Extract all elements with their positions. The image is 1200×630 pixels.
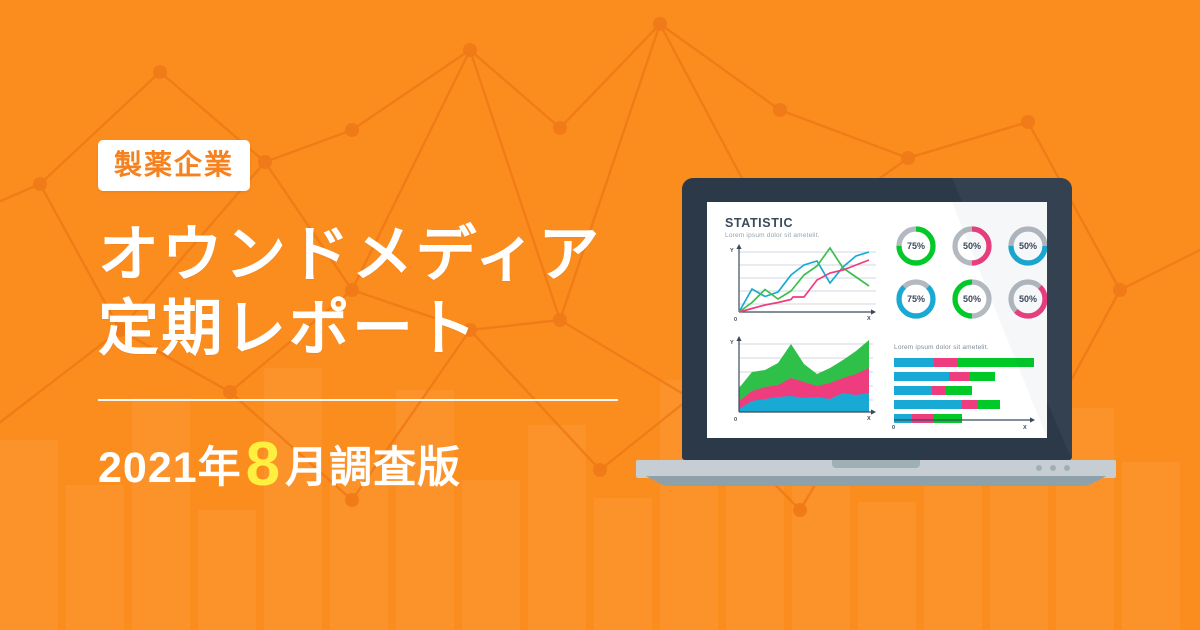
indicator-dot — [1064, 465, 1070, 471]
laptop-illustration: STATISTIC Lorem ipsum dolor sit ametelit… — [636, 178, 1116, 488]
laptop-base-edge — [636, 476, 1116, 486]
line-chart-x-label: X — [867, 316, 871, 322]
donut-value: 50% — [1006, 224, 1047, 268]
indicator-dot — [1036, 465, 1042, 471]
donut-value: 50% — [950, 224, 994, 268]
donut-chart: 50% — [950, 277, 994, 321]
survey-date-suffix: 月調査版 — [285, 447, 461, 490]
statistic-panel-subtitle: Lorem ipsum dolor sit ametelit. — [725, 232, 875, 239]
donut-value: 50% — [950, 277, 994, 321]
laptop-hinge-notch — [832, 460, 920, 468]
stacked-area-chart: Y 0 X — [721, 330, 881, 426]
bar-chart-axis: 0 X — [890, 416, 1040, 432]
donut-chart: 75% — [894, 224, 938, 268]
line-chart-y-label: Y — [730, 248, 734, 254]
survey-date: 2021年 8 月調査版 — [98, 431, 658, 493]
area-chart-x-label: X — [867, 416, 871, 422]
donut-chart: 50% — [1006, 224, 1047, 268]
donut-value: 50% — [1006, 277, 1047, 321]
bar-row — [894, 372, 1034, 381]
donut-chart: 50% — [950, 224, 994, 268]
category-badge: 製薬企業 — [98, 140, 250, 191]
laptop-screen: STATISTIC Lorem ipsum dolor sit ametelit… — [707, 202, 1047, 438]
donut-chart: 50% — [1006, 277, 1047, 321]
bar-row — [894, 386, 1034, 395]
bar-row — [894, 358, 1034, 367]
donut-chart: 75% — [894, 277, 938, 321]
line-chart-origin-label: 0 — [734, 317, 737, 323]
bar-chart-origin-label: 0 — [892, 425, 895, 431]
bar-row — [894, 400, 1034, 409]
laptop-indicator-dots — [1036, 465, 1070, 471]
bar-chart-x-label: X — [1023, 425, 1027, 431]
survey-year-label: 2021年 — [98, 447, 242, 490]
donut-value: 75% — [894, 277, 938, 321]
donut-value: 75% — [894, 224, 938, 268]
hero-text-block: 製薬企業 オウンドメディア 定期レポート 2021年 8 月調査版 — [98, 140, 658, 493]
horizontal-bar-chart — [894, 358, 1034, 423]
statistic-panel-title: STATISTIC — [725, 216, 875, 230]
donut-chart-grid: 75% 50% — [894, 224, 1047, 321]
laptop-lid: STATISTIC Lorem ipsum dolor sit ametelit… — [682, 178, 1072, 460]
indicator-dot — [1050, 465, 1056, 471]
page-title: オウンドメディア 定期レポート — [98, 217, 658, 366]
survey-month-number: 8 — [242, 434, 285, 496]
poster-canvas: 製薬企業 オウンドメディア 定期レポート 2021年 8 月調査版 STATIS… — [0, 0, 1200, 630]
bar-panel-label: Lorem ipsum dolor sit ametelit. — [894, 344, 989, 351]
area-chart-y-label: Y — [730, 340, 734, 346]
title-divider — [98, 399, 618, 401]
line-chart: Y 0 X — [721, 242, 881, 324]
area-chart-origin-label: 0 — [734, 417, 737, 423]
